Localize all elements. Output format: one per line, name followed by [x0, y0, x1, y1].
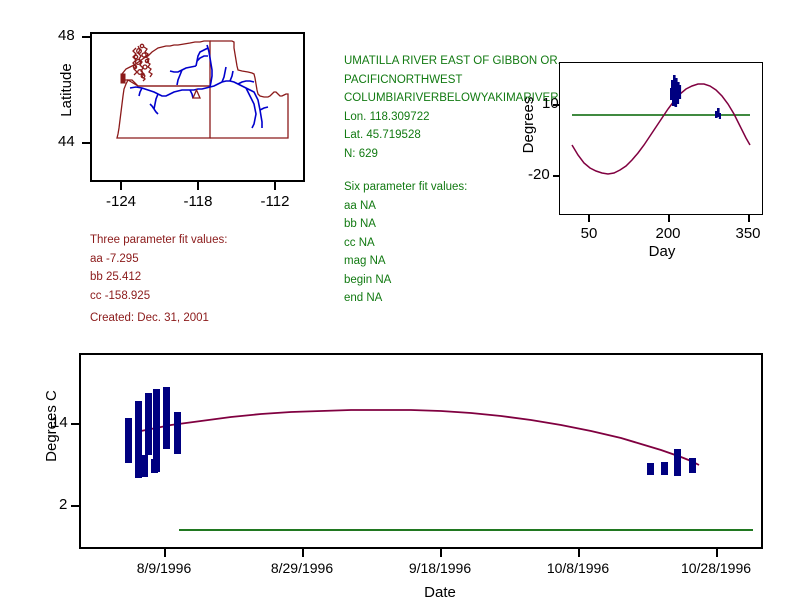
timeseries-fit-curve [141, 410, 699, 465]
annual-cycle-x-tick-50: 50 [572, 225, 606, 242]
timeseries-y-tick-mark-14 [71, 423, 79, 425]
six-param-mag: mag NA [344, 252, 467, 271]
timeseries-y-tick-2: 2 [59, 496, 67, 513]
six-param-aa: aa NA [344, 197, 467, 216]
annual-cycle-y-tick-minus20: -20 [528, 166, 550, 183]
timeseries-x-tick-label-4: 10/8/1996 [534, 560, 622, 576]
map-x-tick-minus124: -124 [103, 193, 139, 210]
timeseries-x-tick-label-3: 9/18/1996 [396, 560, 484, 576]
annual-cycle-graphic [560, 63, 762, 214]
map-panel: Latitude 48 44 [0, 0, 330, 230]
six-param-end: end NA [344, 289, 467, 308]
six-parameter-fit-block: Six parameter fit values: aa NA bb NA cc… [344, 178, 467, 308]
annual-cycle-x-axis-label: Day [638, 243, 686, 260]
three-parameter-fit-block: Three parameter fit values: aa -7.295 bb… [90, 231, 227, 328]
timeseries-panel: Degrees C 14 2 [0, 336, 792, 611]
six-param-heading: Six parameter fit values: [344, 178, 467, 197]
three-param-heading: Three parameter fit values: [90, 231, 227, 250]
timeseries-x-tick-label-2: 8/29/1996 [258, 560, 346, 576]
map-y-tick-44: 44 [58, 133, 75, 150]
map-y-tick-48: 48 [58, 27, 75, 44]
annual-cycle-x-tick-350: 350 [730, 225, 766, 242]
six-param-begin: begin NA [344, 271, 467, 290]
timeseries-x-tick-mark-1 [164, 549, 166, 557]
map-y-tick-mark-48 [82, 36, 90, 38]
timeseries-y-tick-14: 14 [51, 414, 68, 431]
annual-cycle-x-tick-200: 200 [650, 225, 686, 242]
annual-cycle-x-tick-mark-200 [668, 215, 670, 222]
timeseries-data-bars [125, 387, 696, 478]
timeseries-x-tick-mark-3 [440, 549, 442, 557]
timeseries-x-tick-mark-2 [302, 549, 304, 557]
timeseries-x-tick-mark-4 [578, 549, 580, 557]
timeseries-x-axis-label: Date [396, 584, 484, 601]
three-param-cc: cc -158.925 [90, 287, 227, 306]
annual-cycle-panel: Degrees 10 -20 [498, 55, 792, 260]
annual-cycle-data-points [670, 75, 721, 119]
annual-cycle-x-tick-mark-50 [588, 215, 590, 222]
timeseries-plot-frame [79, 353, 763, 549]
annual-cycle-x-tick-mark-350 [748, 215, 750, 222]
map-graphic [92, 34, 303, 180]
timeseries-graphic [81, 355, 761, 547]
map-y-tick-mark-44 [82, 142, 90, 144]
map-x-tick-mark-minus112 [274, 182, 276, 190]
created-date: Created: Dec. 31, 2001 [90, 309, 227, 328]
three-param-bb: bb 25.412 [90, 268, 227, 287]
annual-cycle-y-axis-label: Degrees [520, 80, 540, 170]
map-x-tick-mark-minus118 [197, 182, 199, 190]
map-y-axis-label: Latitude [58, 45, 78, 135]
annual-cycle-plot-frame [559, 62, 763, 215]
visualization-page: Latitude 48 44 [0, 0, 792, 611]
six-param-bb: bb NA [344, 215, 467, 234]
map-x-tick-minus118: -118 [180, 193, 216, 210]
map-x-tick-minus112: -112 [257, 193, 293, 210]
timeseries-x-tick-mark-5 [716, 549, 718, 557]
timeseries-x-tick-label-1: 8/9/1996 [124, 560, 204, 576]
timeseries-y-tick-mark-2 [71, 505, 79, 507]
three-param-aa: aa -7.295 [90, 250, 227, 269]
six-param-cc: cc NA [344, 234, 467, 253]
station-marker-triangle [193, 90, 200, 98]
annual-cycle-fit-curve [572, 84, 750, 174]
timeseries-x-tick-label-5: 10/28/1996 [670, 560, 762, 576]
map-x-tick-mark-minus124 [120, 182, 122, 190]
map-plot-frame [90, 32, 305, 182]
